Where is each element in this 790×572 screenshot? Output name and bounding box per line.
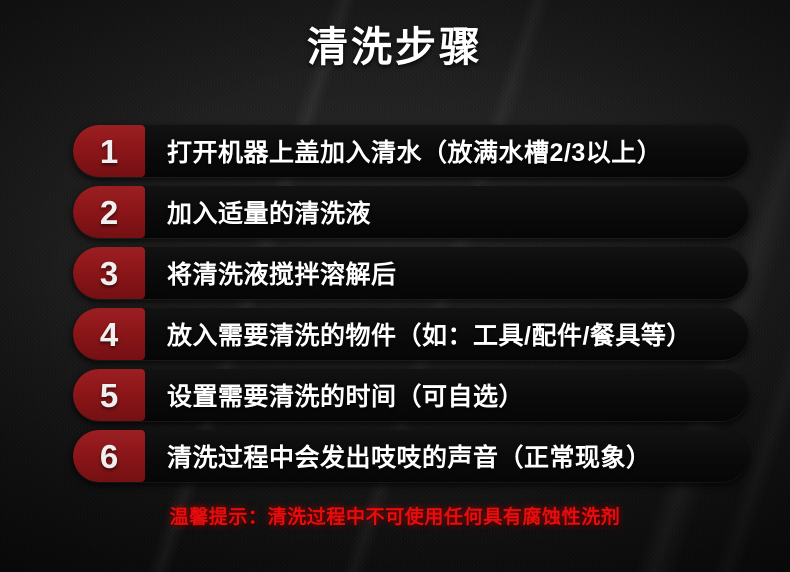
step-row: 3 将清洗液搅拌溶解后 <box>73 247 748 299</box>
step-number: 2 <box>100 196 118 229</box>
step-number: 6 <box>100 440 118 473</box>
step-description: 将清洗液搅拌溶解后 <box>145 247 748 299</box>
step-description: 清洗过程中会发出吱吱的声音（正常现象） <box>145 430 748 482</box>
step-description: 设置需要清洗的时间（可自选） <box>145 369 748 421</box>
step-description: 放入需要清洗的物件（如：工具/配件/餐具等） <box>145 308 748 360</box>
step-number: 3 <box>100 257 118 290</box>
step-description: 加入适量的清洗液 <box>145 186 748 238</box>
step-description: 打开机器上盖加入清水（放满水槽2/3以上） <box>145 125 748 177</box>
step-number: 1 <box>100 135 118 168</box>
step-number-badge: 4 <box>73 308 145 360</box>
step-number-badge: 3 <box>73 247 145 299</box>
step-row: 5 设置需要清洗的时间（可自选） <box>73 369 748 421</box>
page-title: 清洗步骤 <box>0 22 790 72</box>
step-number-badge: 5 <box>73 369 145 421</box>
cleaning-steps-poster: 清洗步骤 1 打开机器上盖加入清水（放满水槽2/3以上） 2 加入适量的清洗液 … <box>0 0 790 572</box>
step-row: 2 加入适量的清洗液 <box>73 186 748 238</box>
step-row: 4 放入需要清洗的物件（如：工具/配件/餐具等） <box>73 308 748 360</box>
poster-content: 清洗步骤 1 打开机器上盖加入清水（放满水槽2/3以上） 2 加入适量的清洗液 … <box>0 0 790 572</box>
step-row: 6 清洗过程中会发出吱吱的声音（正常现象） <box>73 430 748 482</box>
step-number: 5 <box>100 379 118 412</box>
step-number-badge: 2 <box>73 186 145 238</box>
step-number-badge: 6 <box>73 430 145 482</box>
step-number: 4 <box>100 318 118 351</box>
step-number-badge: 1 <box>73 125 145 177</box>
warning-note: 温馨提示：清洗过程中不可使用任何具有腐蚀性洗剂 <box>0 502 790 529</box>
steps-list: 1 打开机器上盖加入清水（放满水槽2/3以上） 2 加入适量的清洗液 3 将清洗… <box>73 125 748 491</box>
step-row: 1 打开机器上盖加入清水（放满水槽2/3以上） <box>73 125 748 177</box>
